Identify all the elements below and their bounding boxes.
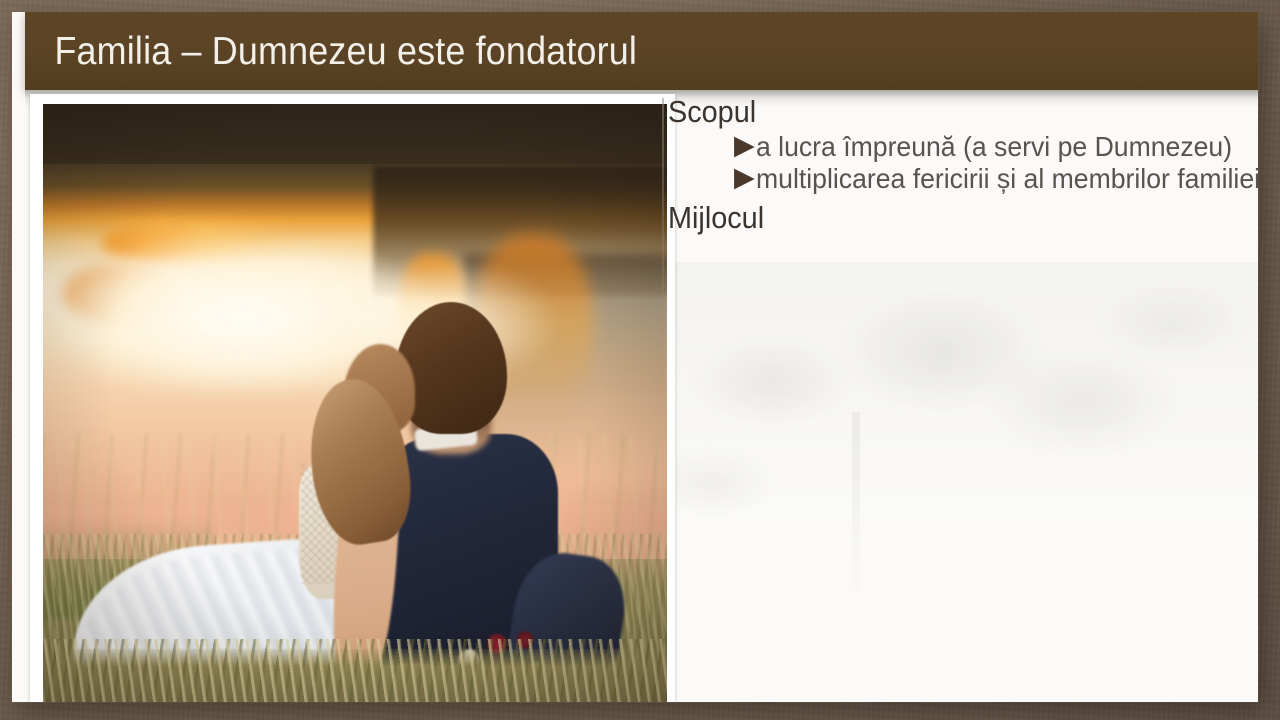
slide-title: Familia – Dumnezeu este fondatorul (25, 32, 637, 71)
slide: Familia – Dumnezeu este fondatorul (12, 12, 1258, 702)
photo-vignette (43, 104, 667, 702)
bullet-item-label: a lucra împreună (a servi pe Dumnezeu) (756, 131, 1232, 162)
wedding-couple-photo (43, 104, 667, 702)
slide-body: Scopul ▶ a lucra împreună (a servi pe Du… (662, 96, 1258, 236)
triangle-bullet-icon: ▶ (734, 131, 755, 161)
body-heading-scopul: Scopul (668, 96, 1217, 129)
body-heading-mijlocul: Mijlocul (668, 202, 1217, 235)
triangle-bullet-icon: ▶ (734, 163, 755, 193)
bullet-item: ▶ multiplicarea fericirii și al membrilo… (734, 163, 1258, 194)
photo-frame (30, 94, 675, 702)
presentation-canvas: Familia – Dumnezeu este fondatorul (0, 0, 1280, 720)
bullet-item-label: multiplicarea fericirii și al membrilor … (756, 163, 1258, 194)
background-watermark-foliage (652, 262, 1258, 692)
bullet-item: ▶ a lucra împreună (a servi pe Dumnezeu) (734, 131, 1258, 162)
slide-title-banner: Familia – Dumnezeu este fondatorul (25, 12, 1258, 90)
